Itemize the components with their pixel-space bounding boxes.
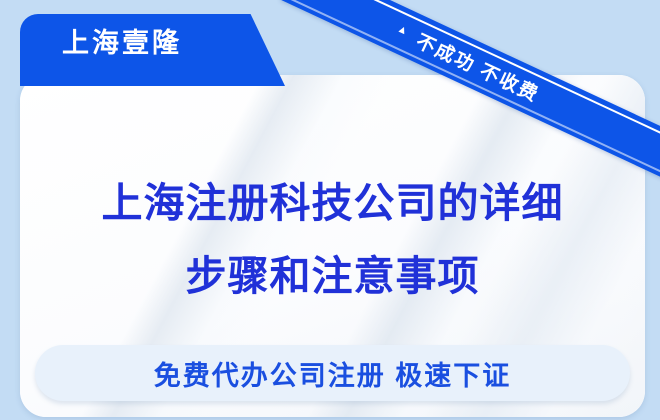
title-line-1: 上海注册科技公司的详细 bbox=[20, 167, 645, 240]
cta-banner[interactable]: 免费代办公司注册 极速下证 bbox=[35, 345, 630, 401]
triangle-up-icon: ▲ bbox=[395, 23, 411, 38]
brand-tab[interactable]: 上海壹隆 bbox=[20, 14, 285, 86]
cta-banner-label: 免费代办公司注册 极速下证 bbox=[154, 354, 512, 393]
title-line-2: 步骤和注意事项 bbox=[20, 240, 645, 313]
promo-poster: 上海注册科技公司的详细 步骤和注意事项 免费代办公司注册 极速下证 上海壹隆 ▲… bbox=[0, 0, 660, 420]
brand-tab-label: 上海壹隆 bbox=[62, 26, 182, 60]
page-title: 上海注册科技公司的详细 步骤和注意事项 bbox=[20, 167, 645, 313]
